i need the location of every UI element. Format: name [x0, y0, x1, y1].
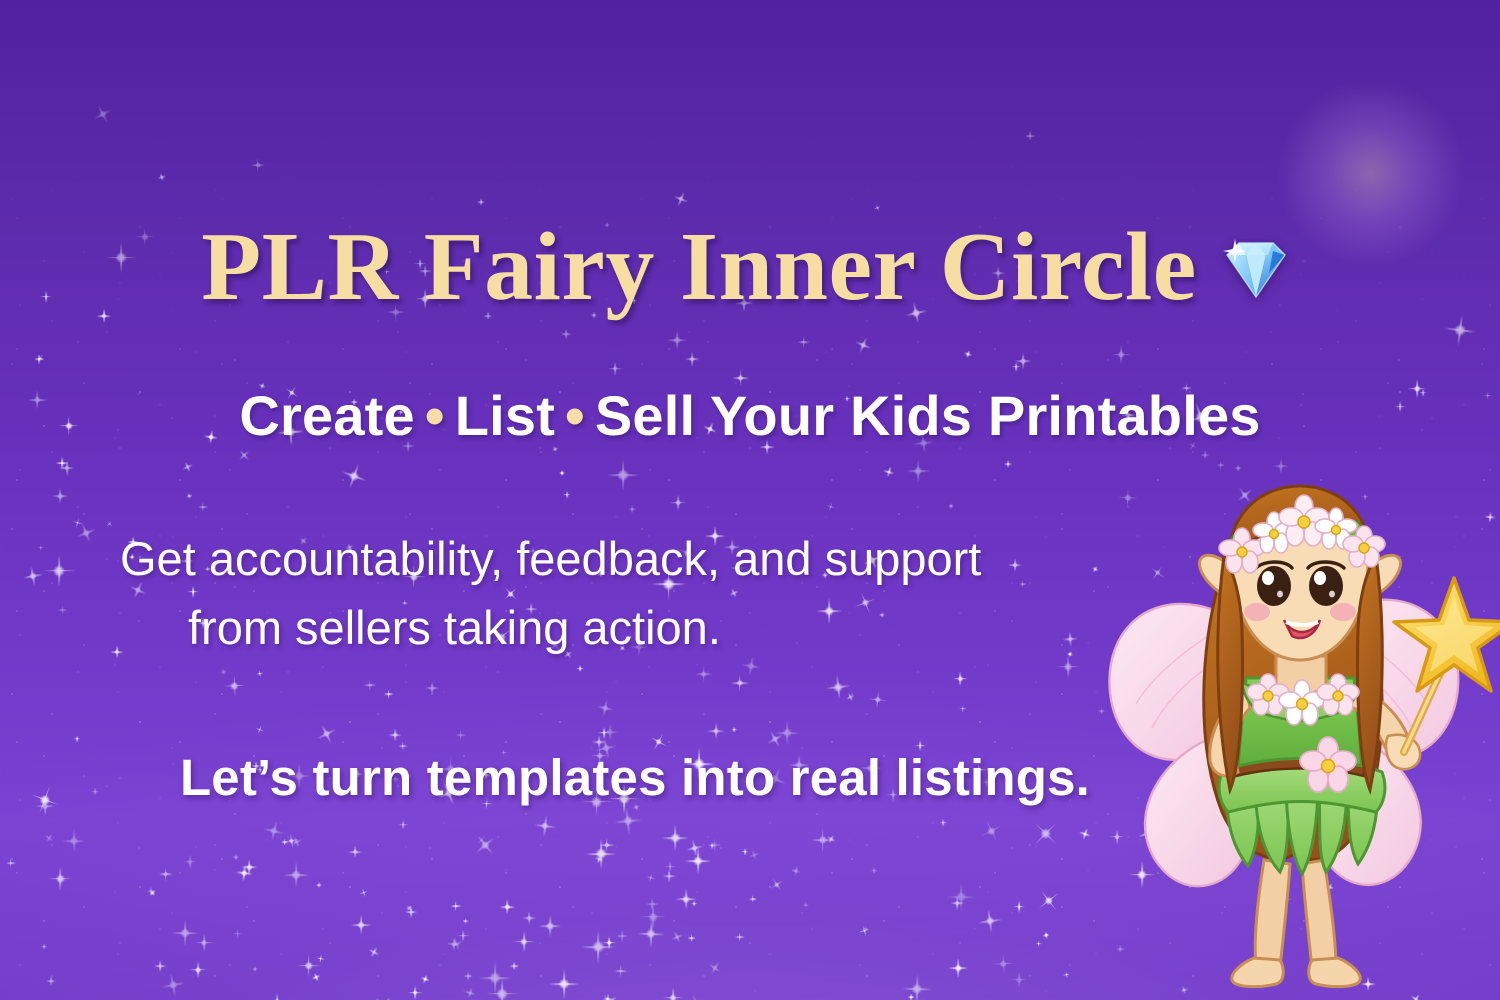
sparkle-star-icon — [348, 845, 362, 859]
sparkle-star-icon — [601, 723, 619, 741]
sparkle-star-icon — [669, 929, 685, 945]
sparkle-star-icon — [261, 818, 287, 844]
sparkle-star-icon — [881, 465, 895, 479]
sparkle-star-icon — [296, 953, 321, 978]
sparkle-star-icon — [731, 726, 738, 733]
sparkle-star-icon — [1043, 932, 1050, 939]
sparkle-star-icon — [742, 848, 749, 855]
sparkle-star-icon — [1362, 493, 1369, 500]
sparkle-star-icon — [383, 689, 393, 699]
sparkle-star-icon — [464, 972, 473, 981]
sparkle-star-icon — [337, 459, 370, 492]
sparkle-star-icon — [147, 886, 156, 895]
sparkle-star-icon — [172, 920, 199, 947]
sparkle-star-icon — [602, 936, 615, 949]
sparkle-star-icon — [1267, 524, 1276, 533]
sparkle-star-icon — [748, 848, 761, 861]
sparkle-star-icon — [21, 564, 44, 587]
sparkle-star-icon — [233, 854, 239, 860]
sparkle-star-icon — [858, 924, 872, 938]
sparkle-star-icon — [766, 874, 788, 896]
cheek-right — [1330, 603, 1356, 621]
star-dots-layer-3 — [0, 0, 1500, 1000]
sparkle-star-icon — [1145, 560, 1169, 584]
sparkle-star-icon — [663, 870, 675, 882]
sparkle-star-icon — [420, 974, 431, 985]
sparkle-star-icon — [614, 965, 627, 978]
sparkle-star-icon — [42, 831, 56, 845]
sparkle-star-icon — [613, 806, 643, 836]
sparkle-star-icon — [664, 861, 676, 873]
sparkle-star-icon — [951, 897, 964, 910]
sparkle-star-icon — [71, 516, 85, 530]
fairy-character — [1096, 460, 1496, 1000]
sparkle-star-icon — [283, 831, 301, 849]
sparkle-star-icon — [707, 723, 724, 740]
face — [1232, 490, 1368, 660]
hair-front — [1229, 486, 1370, 568]
sparkle-star-icon — [270, 994, 285, 1000]
sparkle-star-icon — [603, 994, 613, 1000]
sparkle-star-icon — [675, 889, 696, 910]
bullet-separator-icon: • — [555, 384, 595, 447]
sparkle-star-icon — [1077, 826, 1093, 842]
sparkle-star-icon — [684, 838, 704, 858]
sparkle-star-icon — [1062, 970, 1070, 978]
sparkle-star-icon — [310, 972, 321, 983]
sparkle-star-icon — [730, 674, 748, 692]
sparkle-star-icon — [667, 330, 687, 350]
sparkle-star-icon — [576, 665, 584, 673]
sparkle-star-icon — [41, 943, 48, 950]
sparkle-star-icon — [1361, 977, 1375, 991]
sparkle-star-icon — [1117, 487, 1139, 509]
sparkle-star-icon — [775, 720, 800, 745]
sparkle-star-icon — [691, 900, 698, 907]
sparkle-star-icon — [695, 666, 712, 683]
sparkle-star-icon — [73, 735, 80, 742]
sparkle-star-icon — [708, 842, 716, 850]
hand — [1386, 735, 1420, 769]
sparkle-star-icon — [34, 351, 47, 364]
sparkle-star-icon — [56, 457, 69, 470]
sparkle-star-icon — [901, 973, 931, 1000]
sparkle-star-icon — [448, 936, 465, 953]
sparkle-star-icon — [1031, 883, 1067, 919]
hair-back — [1204, 576, 1382, 860]
sparkle-star-icon — [670, 494, 687, 511]
sparkle-star-icon — [1128, 861, 1155, 888]
sparkle-star-icon — [1407, 991, 1423, 1000]
sparkle-star-icon — [404, 903, 413, 912]
sparkle-star-icon — [1116, 945, 1124, 953]
sparkle-star-icon — [1200, 451, 1209, 460]
gem-stone-icon — [1213, 233, 1299, 305]
sparkle-star-icon — [283, 862, 309, 888]
dress-flower-trim — [1242, 682, 1360, 721]
sparkle-star-icon — [1010, 971, 1028, 989]
page-title: PLR Fairy Inner Circle — [201, 218, 1196, 316]
sparkle-star-icon — [959, 705, 967, 713]
sparkle-star-icon — [873, 203, 882, 212]
sparkle-star-icon — [561, 329, 572, 340]
starfield-background — [0, 0, 1500, 1000]
sparkle-star-icon — [500, 899, 515, 914]
bare-feet — [1232, 958, 1360, 987]
star-dots-layer-1 — [0, 0, 1500, 1000]
sparkle-star-icon — [616, 930, 629, 943]
sparkle-star-icon — [1232, 482, 1257, 507]
sparkle-star-icon — [486, 978, 518, 1000]
body-line-1: Get accountability, feedback, and suppor… — [120, 532, 981, 585]
sparkle-star-icon — [949, 958, 969, 978]
sparkle-star-icon — [43, 555, 75, 587]
sparkle-star-icon — [38, 545, 44, 551]
body-line-2: from sellers taking action. — [120, 593, 1060, 662]
sparkle-star-icon — [539, 914, 562, 937]
sparkle-star-icon — [235, 446, 252, 463]
sparkle-star-icon — [1442, 312, 1477, 347]
sparkle-star-icon — [1325, 882, 1335, 892]
sparkle-star-icon — [977, 908, 1004, 935]
sparkle-star-icon — [232, 928, 243, 939]
sparkle-star-icon — [1244, 609, 1259, 624]
sparkle-star-icon — [316, 954, 327, 965]
sparkle-star-icon — [608, 361, 622, 375]
sparkle-star-icon — [803, 902, 809, 908]
sparkle-star-icon — [646, 898, 658, 910]
sparkle-star-icon — [158, 867, 172, 881]
sparkle-star-icon — [469, 829, 501, 861]
subtitle-part-sell: Sell Your Kids Printables — [595, 384, 1261, 447]
sparkle-star-icon — [963, 349, 973, 359]
sparkle-star-icon — [1014, 353, 1031, 370]
sparkle-star-icon — [90, 101, 117, 128]
crown-flowers — [1219, 495, 1385, 573]
flower-crown — [1219, 495, 1385, 573]
sparkle-star-icon — [825, 674, 852, 701]
sparkle-star-icon — [845, 692, 857, 704]
pink-wings — [1109, 600, 1458, 886]
sparkle-star-icon — [368, 991, 397, 1000]
sparkle-star-icon — [1023, 812, 1067, 856]
belt-flower — [1300, 737, 1356, 792]
sparkle-star-icon — [947, 502, 955, 510]
sparkle-star-icon — [1386, 829, 1401, 844]
sparkle-star-icon — [147, 888, 157, 898]
sparkle-star-icon — [1297, 649, 1323, 675]
sparkle-star-icon — [679, 987, 720, 1000]
title-row: PLR Fairy Inner Circle — [0, 218, 1500, 316]
sparkle-star-icon — [705, 958, 724, 977]
hair-side-right — [1358, 556, 1383, 790]
sparkle-star-icon — [256, 670, 265, 679]
sparkle-star-icon — [48, 867, 72, 891]
sparkle-star-icon — [749, 895, 757, 903]
sparkle-star-icon — [180, 460, 195, 475]
bullet-separator-icon: • — [415, 384, 455, 447]
sparkle-star-icon — [907, 460, 930, 483]
sparkle-star-icon — [1091, 565, 1100, 574]
tagline: Let’s turn templates into real listings. — [0, 748, 1270, 807]
sparkle-star-icon — [1035, 940, 1041, 946]
sparkle-star-icon — [870, 867, 878, 875]
cheek-left — [1244, 603, 1270, 621]
sparkle-star-icon — [57, 605, 68, 616]
sparkle-star-icon — [364, 679, 376, 691]
sparkle-star-icon — [586, 838, 617, 869]
sparkle-star-icon — [425, 681, 439, 695]
sparkle-star-icon — [1135, 820, 1161, 846]
sparkle-star-icon — [281, 839, 288, 846]
sparkle-star-icon — [594, 854, 605, 865]
sparkle-star-icon — [455, 730, 466, 741]
sparkle-star-icon — [313, 721, 341, 749]
sparkle-star-icon — [479, 962, 512, 995]
sparkle-star-icon — [1485, 511, 1497, 523]
sparkle-star-icon — [474, 831, 490, 847]
sparkle-star-icon — [1057, 655, 1080, 678]
sparkle-star-icon — [235, 864, 254, 883]
promo-banner-canvas: PLR Fairy Inner Circle — [0, 0, 1500, 1000]
sparkle-star-icon — [366, 944, 382, 960]
sparkle-star-icon — [1110, 829, 1125, 844]
sparkle-star-icon — [595, 698, 615, 718]
sparkle-star-icon — [628, 505, 636, 513]
subtitle: Create•List•Sell Your Kids Printables — [0, 383, 1500, 448]
sparkle-star-icon — [198, 502, 208, 512]
sparkle-star-icon — [825, 833, 837, 845]
sparkle-star-icon — [663, 987, 684, 1000]
sparkle-star-icon — [104, 519, 114, 529]
sparkle-star-icon — [810, 828, 835, 853]
sparkle-star-icon — [223, 674, 247, 698]
sparkle-star-icon — [35, 355, 44, 364]
sparkle-star-icon — [157, 172, 167, 182]
sparkle-star-icon — [73, 520, 99, 546]
sparkle-star-icon — [159, 971, 187, 999]
sparkle-star-icon — [1062, 631, 1077, 646]
sparkle-star-icon — [599, 838, 614, 853]
sparkle-star-icon — [1098, 708, 1106, 716]
sparkle-star-icon — [1025, 131, 1036, 142]
star-dots-layer-2 — [0, 0, 1500, 1000]
sparkle-star-icon — [389, 728, 402, 741]
sparkle-star-icon — [450, 901, 461, 912]
sparkle-star-icon — [1004, 460, 1012, 468]
sparkle-star-icon — [189, 961, 206, 978]
sparkle-star-icon — [513, 931, 535, 953]
teeth — [1286, 622, 1318, 625]
sparkle-star-icon — [862, 926, 868, 932]
sparkle-star-icon — [533, 813, 557, 837]
sparkle-star-icon — [154, 961, 166, 973]
sparkle-star-icon — [598, 991, 622, 1000]
sparkle-star-icon — [636, 920, 665, 949]
sparkle-star-icon — [1013, 901, 1025, 913]
sparkle-star-icon — [219, 668, 228, 677]
subtitle-part-create: Create — [239, 384, 415, 447]
body-copy: Get accountability, feedback, and suppor… — [120, 524, 1060, 662]
sparkle-star-icon — [581, 930, 615, 964]
sparkle-star-icon — [797, 336, 810, 349]
sparkle-star-icon — [550, 969, 580, 999]
sparkle-star-icon — [1262, 886, 1298, 922]
sparkle-star-icon — [242, 860, 257, 875]
sparkle-star-icon — [399, 820, 408, 829]
sparkle-star-icon — [687, 934, 696, 943]
sparkle-star-icon — [6, 858, 16, 868]
sparkle-star-icon — [254, 723, 266, 735]
sparkle-star-icon — [707, 838, 722, 853]
sparkle-star-icon — [1235, 465, 1242, 472]
sparkle-star-icon — [976, 815, 1007, 846]
sparkle-star-icon — [446, 936, 462, 952]
sparkle-star-icon — [464, 987, 478, 1000]
sparkle-star-icon — [52, 488, 68, 504]
sparkle-star-icon — [1111, 345, 1131, 365]
sparkle-star-icon — [1273, 458, 1289, 474]
sparkle-star-icon — [462, 918, 469, 925]
sparkle-star-icon — [953, 671, 968, 686]
sparkle-star-icon — [1179, 985, 1189, 995]
sparkle-star-icon — [908, 994, 915, 1000]
sparkle-star-icon — [1294, 726, 1312, 744]
sparkle-star-icon — [62, 829, 86, 853]
sparkle-star-icon — [408, 985, 422, 999]
sparkle-star-icon — [685, 352, 699, 366]
sparkle-star-icon — [252, 966, 258, 972]
sparkle-star-icon — [670, 189, 691, 210]
sparkle-star-icon — [640, 904, 666, 930]
sparkle-star-icon — [195, 933, 213, 951]
sparkle-star-icon — [662, 824, 689, 851]
sparkle-star-icon — [607, 459, 639, 491]
gold-star-wand — [1394, 578, 1500, 752]
sparkle-star-icon — [559, 470, 565, 476]
sparkle-star-icon — [993, 953, 1015, 975]
sparkle-star-icon — [457, 930, 469, 942]
starfield-density-mask — [0, 0, 1500, 1000]
sparkle-star-icon — [1011, 362, 1021, 372]
elf-ear-left — [1199, 555, 1232, 598]
mouth — [1284, 620, 1320, 638]
sparkle-star-icon — [645, 872, 657, 884]
sparkle-star-icon — [185, 492, 193, 500]
sparkle-star-icon — [734, 932, 744, 942]
sparkle-star-icon — [183, 854, 198, 869]
sparkle-star-icon — [358, 887, 370, 899]
sparkle-star-icon — [939, 818, 947, 826]
sparkle-star-icon — [405, 907, 417, 919]
sparkle-star-icon — [59, 460, 75, 476]
legs — [1255, 860, 1336, 976]
elf-ear-right — [1368, 555, 1401, 598]
sparkle-star-icon — [1216, 461, 1224, 469]
sparkle-star-icon — [684, 848, 711, 875]
sparkle-star-icon — [947, 883, 975, 911]
sparkle-star-icon — [852, 335, 874, 357]
sparkle-star-icon — [351, 915, 371, 935]
sparkle-star-icon — [46, 976, 56, 986]
sparkle-star-icon — [867, 689, 888, 710]
sparkle-star-icon — [523, 912, 536, 925]
sparkle-star-icon — [1066, 651, 1073, 658]
neck — [1276, 656, 1326, 695]
sparkle-star-icon — [316, 882, 322, 888]
eyes — [1256, 562, 1344, 606]
sparkle-star-icon — [790, 865, 802, 877]
sparkle-star-icon — [289, 836, 304, 851]
sparkle-star-icon — [251, 158, 265, 172]
sparkle-star-icon — [598, 727, 610, 739]
sparkle-star-icon — [510, 961, 519, 970]
sparkle-star-icon — [563, 491, 571, 499]
sparkle-star-icon — [477, 198, 485, 206]
subtitle-part-list: List — [455, 384, 555, 447]
sparkle-star-icon — [825, 501, 837, 513]
